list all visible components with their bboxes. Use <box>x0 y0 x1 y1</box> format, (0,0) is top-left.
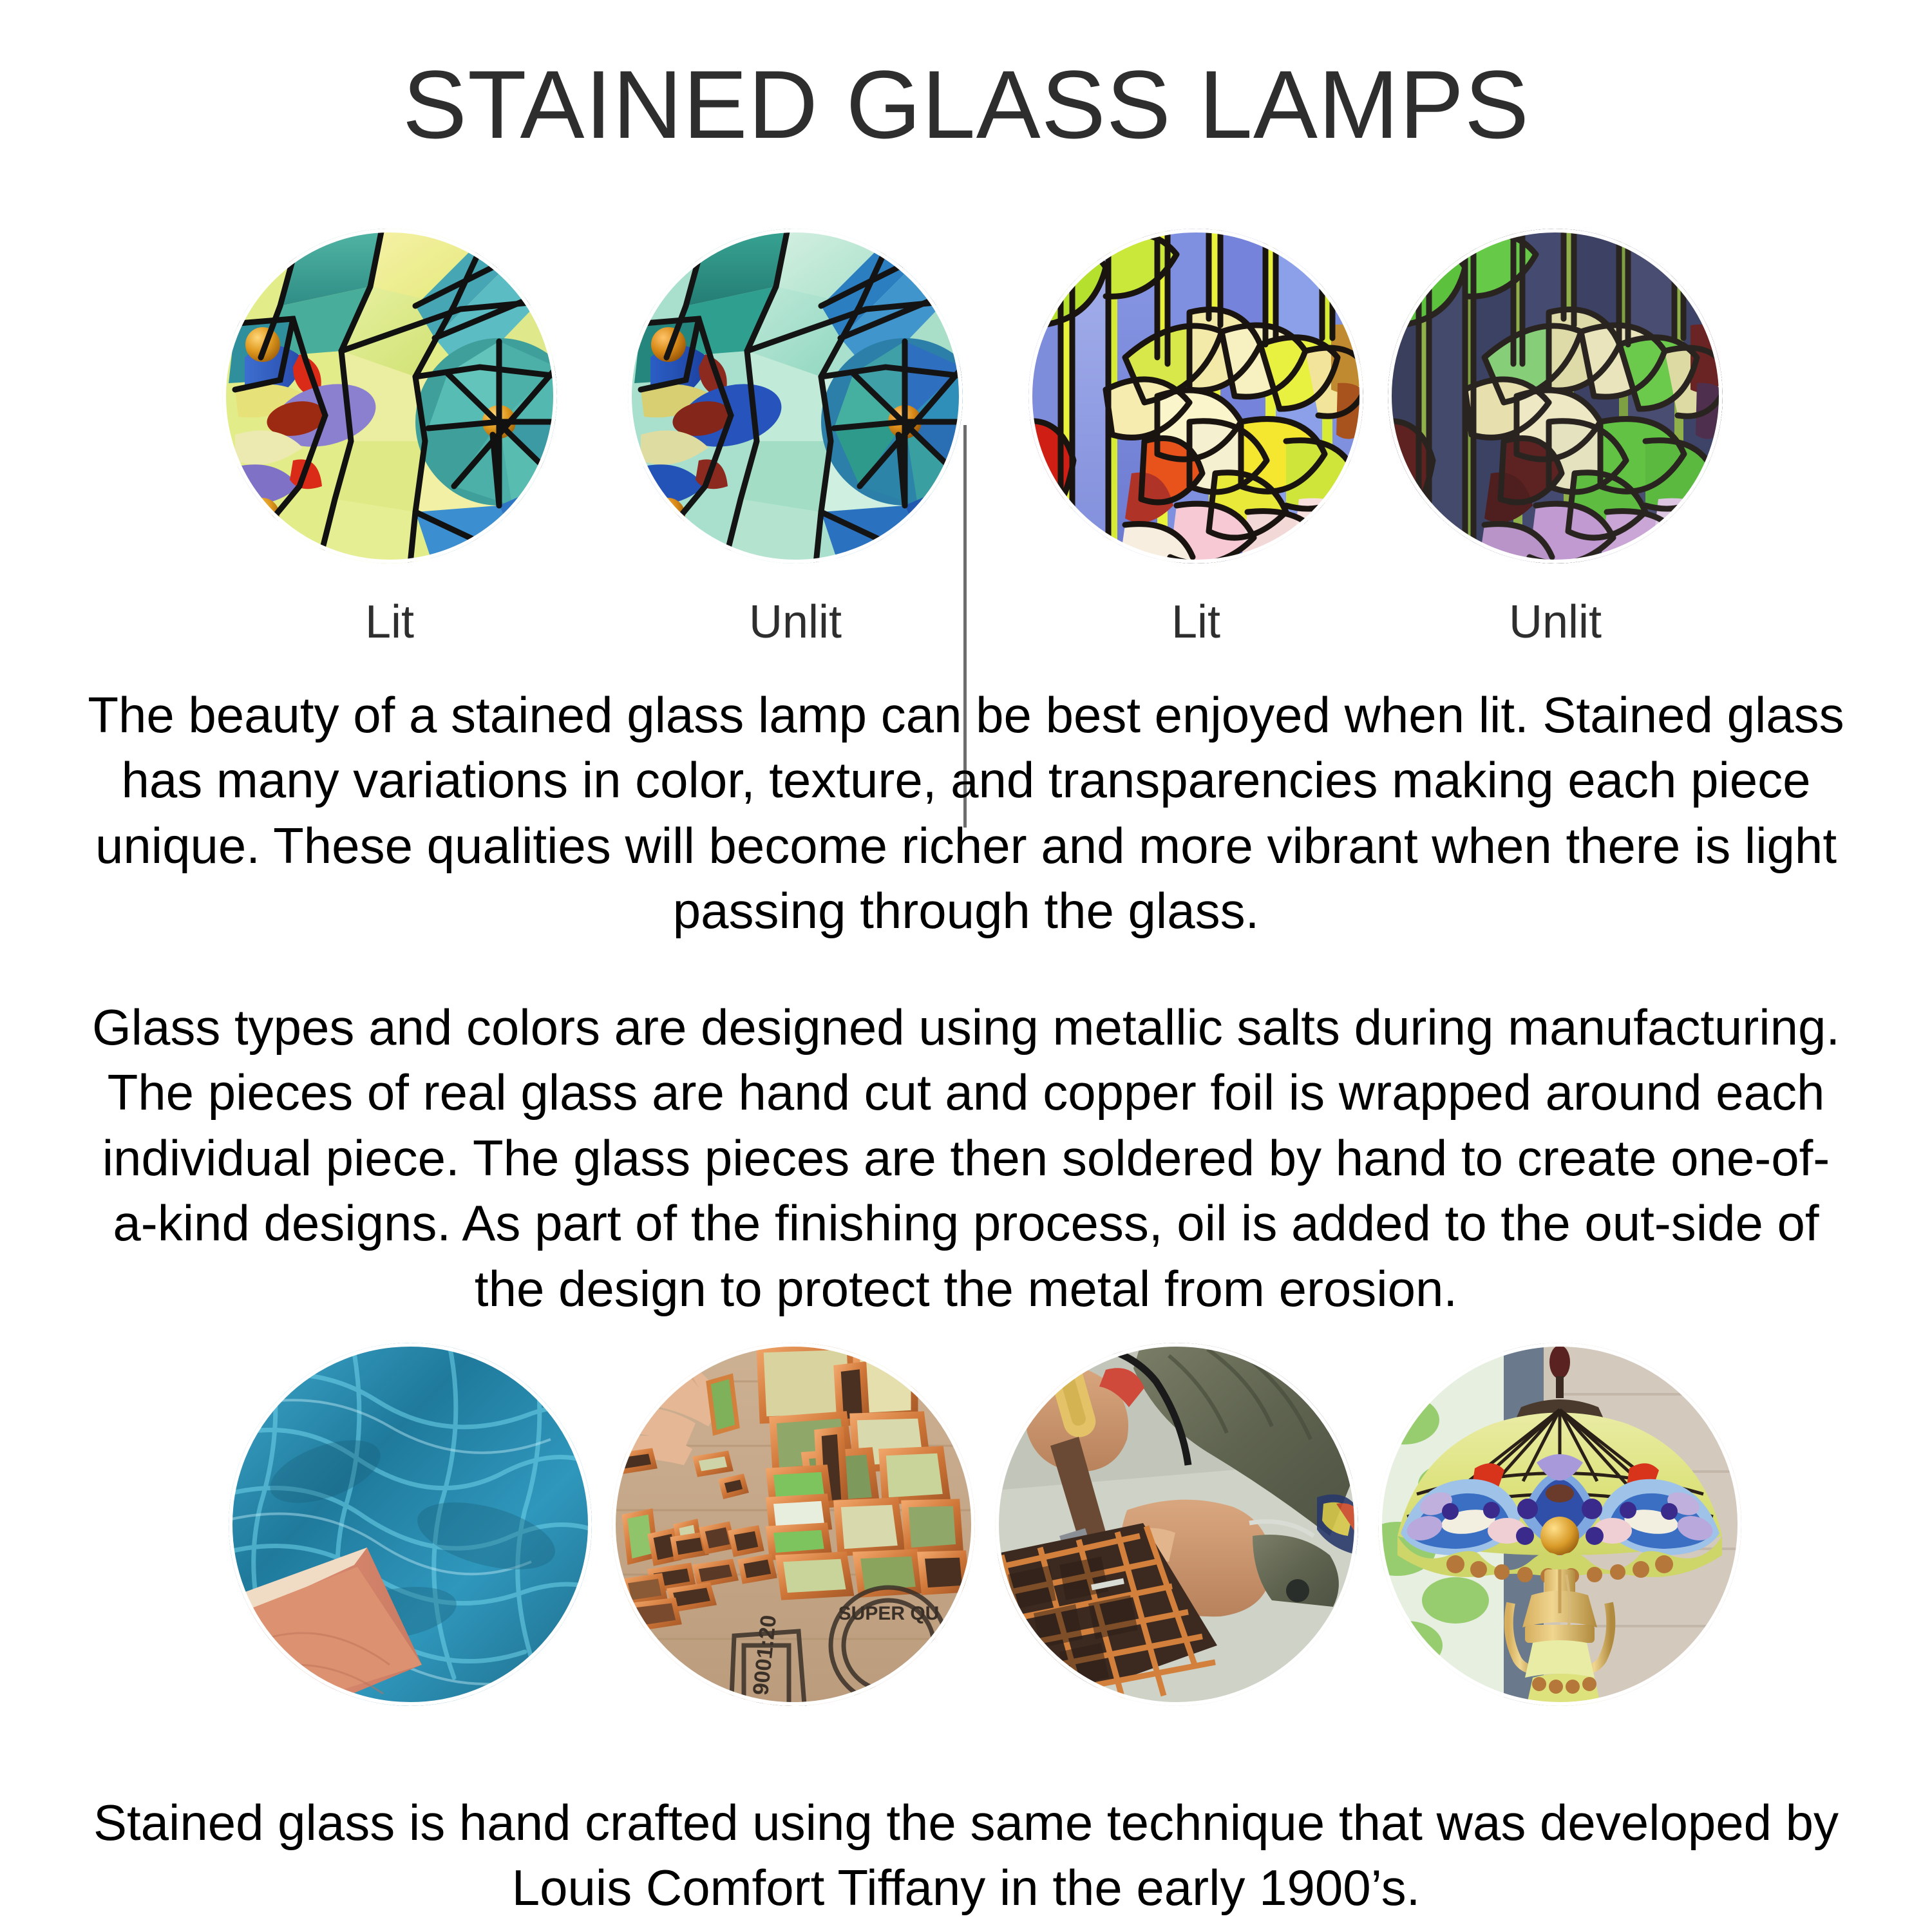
glass-sheets-image <box>229 1343 592 1707</box>
process-photo-row: SUPER QU ISO 9001:20 <box>0 1343 1932 1716</box>
caption-lamp-a-lit: Lit <box>222 596 557 649</box>
copper-foiling-image: SUPER QU ISO 9001:20 <box>612 1343 976 1707</box>
comparison-captions: Lit Unlit Lit Unlit <box>0 596 1932 667</box>
lamp-a-unlit-image <box>628 229 963 563</box>
lamp-b-unlit-image <box>1388 229 1723 563</box>
caption-lamp-b-lit: Lit <box>1028 596 1363 649</box>
finished-lamp-image <box>1378 1343 1742 1707</box>
page-title: STAINED GLASS LAMPS <box>0 54 1932 156</box>
lit-unlit-comparison-row <box>0 229 1932 609</box>
lamp-b-lit-image <box>1028 229 1363 563</box>
process-paragraph: Glass types and colors are designed usin… <box>84 995 1848 1321</box>
lamp-a-lit-image <box>222 229 557 563</box>
caption-lamp-a-unlit: Unlit <box>628 596 963 649</box>
intro-paragraph: The beauty of a stained glass lamp can b… <box>84 683 1848 944</box>
footer-caption: Stained glass is hand crafted using the … <box>84 1790 1848 1921</box>
caption-lamp-b-unlit: Unlit <box>1388 596 1723 649</box>
crate-stamp-quality-text: SUPER QU <box>838 1603 940 1624</box>
hand-soldering-image <box>995 1343 1359 1707</box>
infographic-page: STAINED GLASS LAMPS <box>0 0 1932 1932</box>
